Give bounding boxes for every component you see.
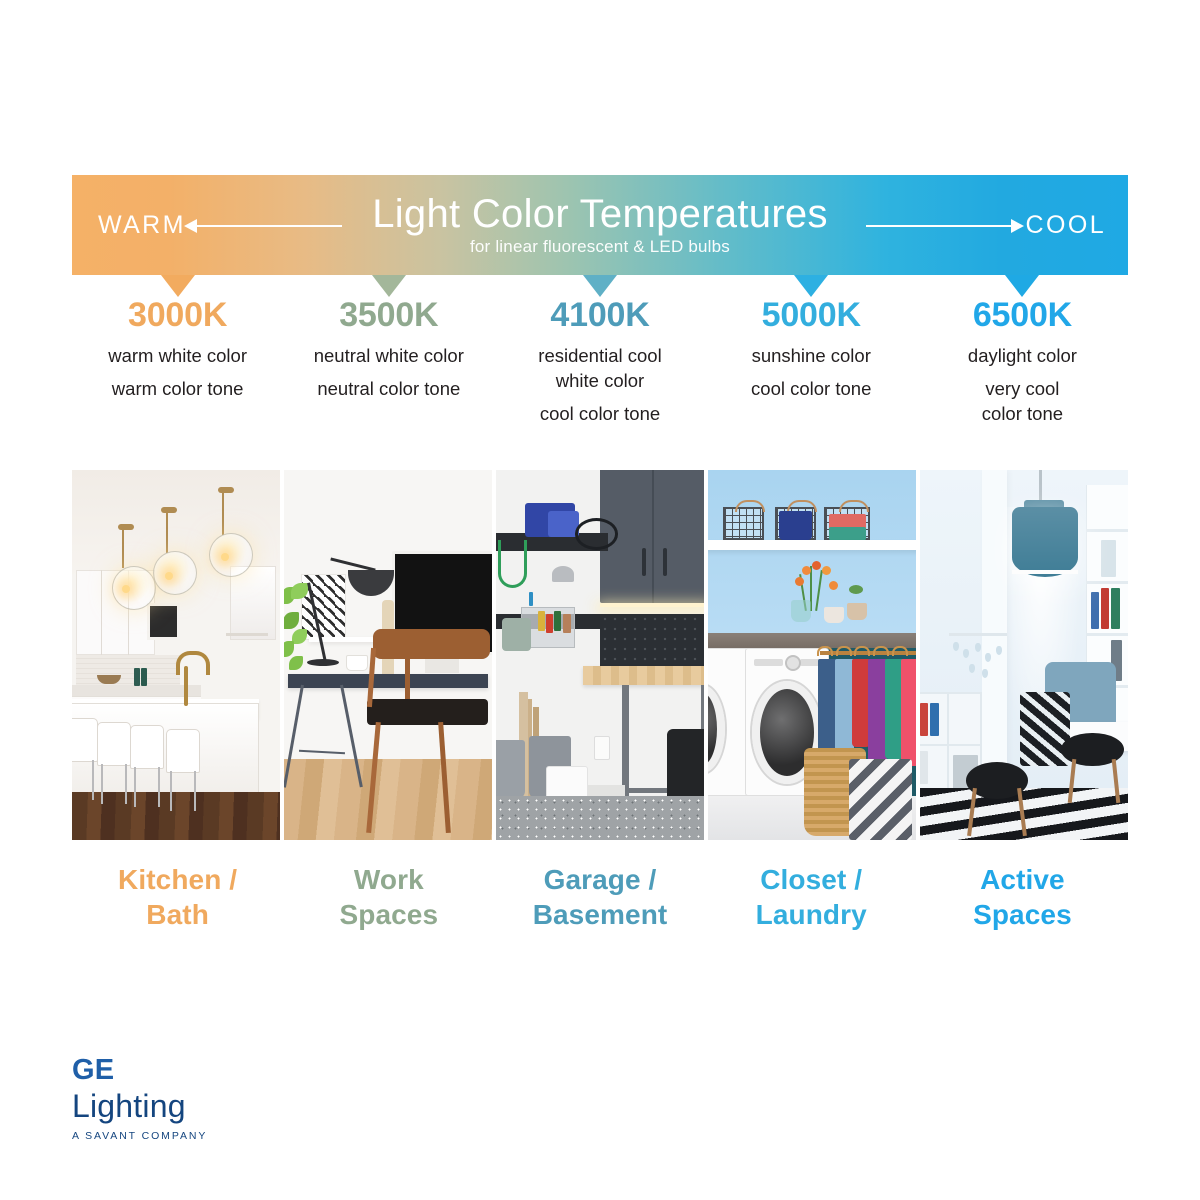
ge-lighting-logo: GE Lighting A SAVANT COMPANY [72,1056,207,1142]
desc-tone: color tone [968,402,1077,427]
pointer-triangle-3500k [372,275,406,297]
room-line-2: Spaces [283,897,494,932]
kelvin-columns: 3000K warm white color warm color tone 3… [72,298,1128,427]
kelvin-description: warm white color warm color tone [108,344,247,402]
room-line-1: Active [917,862,1128,897]
warm-arrow-line [192,225,342,227]
pointer-triangle-6500k [1005,275,1039,297]
desc-tone: neutral color tone [314,377,464,402]
photo-closet-laundry [708,470,916,840]
room-line-1: Kitchen / [72,862,283,897]
logo-ge-text: GE [72,1056,207,1085]
room-line-1: Closet / [706,862,917,897]
kelvin-value: 6500K [973,298,1072,334]
kelvin-column-5000k: 5000K sunshine color cool color tone [706,298,917,427]
room-line-2: Bath [72,897,283,932]
room-line-1: Work [283,862,494,897]
desc-line-1: daylight color [968,344,1077,369]
photo-kitchen-bath [72,470,280,840]
kelvin-value: 3000K [128,298,227,334]
desc-line-2: white color [538,369,661,394]
kelvin-description: sunshine color cool color tone [751,344,871,402]
kelvin-column-3500k: 3500K neutral white color neutral color … [283,298,494,427]
photo-active-spaces [920,470,1128,840]
kelvin-value: 5000K [762,298,861,334]
room-line-1: Garage / [494,862,705,897]
kelvin-column-6500k: 6500K daylight color very cool color ton… [917,298,1128,427]
desc-tone: cool color tone [751,377,871,402]
room-line-2: Laundry [706,897,917,932]
photo-garage-basement [496,470,704,840]
desc-line-1: residential cool [538,344,661,369]
kelvin-description: neutral white color neutral color tone [314,344,464,402]
warm-label: WARM [98,175,186,275]
desc-line-1: sunshine color [751,344,871,369]
kelvin-value: 4100K [550,298,649,334]
desc-line-1: warm white color [108,344,247,369]
photo-work-spaces [284,470,492,840]
room-label-kitchen-bath: Kitchen / Bath [72,862,283,932]
header-banner: WARM COOL Light Color Temperatures for l… [72,175,1128,275]
room-label-active-spaces: Active Spaces [917,862,1128,932]
kelvin-column-3000k: 3000K warm white color warm color tone [72,298,283,427]
pointer-triangle-5000k [794,275,828,297]
logo-lighting-text: Lighting [72,1088,207,1125]
cool-arrow-icon [1011,219,1024,233]
pointer-triangle-4100k [583,275,617,297]
room-label-closet-laundry: Closet / Laundry [706,862,917,932]
logo-tagline: A SAVANT COMPANY [72,1130,207,1142]
kelvin-value: 3500K [339,298,438,334]
pointer-triangle-3000k [161,275,195,297]
room-label-work-spaces: Work Spaces [283,862,494,932]
desc-line-2: very cool [968,377,1077,402]
room-line-2: Basement [494,897,705,932]
room-label-garage-basement: Garage / Basement [494,862,705,932]
desc-tone: warm color tone [108,377,247,402]
room-labels-row: Kitchen / Bath Work Spaces Garage / Base… [72,862,1128,932]
photo-row [72,470,1128,840]
kelvin-description: residential cool white color cool color … [538,344,661,427]
desc-tone: cool color tone [538,402,661,427]
desc-line-1: neutral white color [314,344,464,369]
cool-arrow-line [866,225,1016,227]
kelvin-column-4100k: 4100K residential cool white color cool … [494,298,705,427]
warm-arrow-icon [184,219,197,233]
cool-label: COOL [1026,175,1106,275]
room-line-2: Spaces [917,897,1128,932]
kelvin-description: daylight color very cool color tone [968,344,1077,427]
